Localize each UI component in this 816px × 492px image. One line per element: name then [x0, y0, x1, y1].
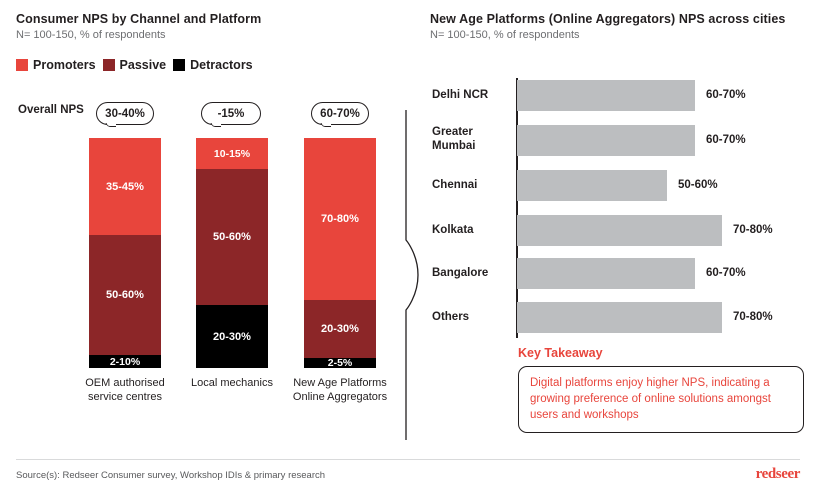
legend-swatch-detractors — [173, 59, 185, 71]
legend-swatch-promoters — [16, 59, 28, 71]
right-chart-title: New Age Platforms (Online Aggregators) N… — [430, 12, 785, 26]
segment-oem-passive: 50-60% — [89, 235, 161, 355]
bar-greater-mumbai — [517, 125, 695, 156]
city-label-greater-mumbai-line2: Mumbai — [432, 139, 512, 153]
segment-oem-detractors: 2-10% — [89, 355, 161, 368]
bar-value-kolkata: 70-80% — [733, 224, 773, 236]
segment-local-passive: 50-60% — [196, 169, 268, 305]
callout-bubble-local-text: -15% — [218, 108, 245, 120]
bar-others — [517, 302, 722, 333]
city-label-kolkata-line1: Kolkata — [432, 223, 512, 237]
legend: Promoters Passive Detractors — [16, 58, 253, 72]
right-chart-axis — [516, 78, 518, 338]
segment-local-detractors-label: 20-30% — [213, 331, 251, 343]
segment-newage-promoters-label: 70-80% — [321, 213, 359, 225]
category-label-newage-line2: Online Aggregators — [275, 390, 405, 404]
legend-label-promoters: Promoters — [33, 58, 96, 72]
bar-bangalore — [517, 258, 695, 289]
segment-local-promoters-label: 10-15% — [214, 148, 250, 160]
city-label-bangalore: Bangalore — [432, 266, 512, 280]
segment-newage-passive: 20-30% — [304, 300, 376, 358]
segment-local-promoters: 10-15% — [196, 138, 268, 169]
category-label-newage: New Age Platforms Online Aggregators — [275, 376, 405, 404]
segment-newage-detractors: 2-5% — [304, 358, 376, 368]
segment-newage-promoters: 70-80% — [304, 138, 376, 300]
city-label-kolkata: Kolkata — [432, 223, 512, 237]
legend-swatch-passive — [103, 59, 115, 71]
segment-newage-passive-label: 20-30% — [321, 323, 359, 335]
stacked-bars-area: 35-45% 50-60% 2-10% 10-15% 50-60% 20-30%… — [0, 138, 406, 368]
category-label-oem-line2: service centres — [60, 390, 190, 404]
key-takeaway: Key Takeaway Digital platforms enjoy hig… — [518, 346, 804, 433]
bar-kolkata — [517, 215, 722, 246]
legend-label-detractors: Detractors — [190, 58, 253, 72]
key-takeaway-title: Key Takeaway — [518, 346, 804, 360]
legend-item-promoters: Promoters — [16, 58, 96, 72]
callout-tail-newage — [318, 123, 331, 132]
left-chart-subtitle: N= 100-150, % of respondents — [16, 29, 261, 41]
bar-value-chennai: 50-60% — [678, 179, 718, 191]
stack-oem: 35-45% 50-60% 2-10% — [89, 138, 161, 368]
bar-delhi-ncr — [517, 80, 695, 111]
city-label-chennai-line1: Chennai — [432, 178, 512, 192]
callout-tail-oem — [103, 123, 116, 132]
city-label-others: Others — [432, 310, 512, 324]
right-chart-subtitle: N= 100-150, % of respondents — [430, 29, 785, 41]
callout-bubble-oem-text: 30-40% — [105, 108, 145, 120]
category-label-newage-line1: New Age Platforms — [275, 376, 405, 390]
segment-oem-promoters: 35-45% — [89, 138, 161, 235]
segment-oem-detractors-label: 2-10% — [110, 356, 140, 368]
bar-value-bangalore: 60-70% — [706, 267, 746, 279]
callout-tail-local — [208, 123, 221, 132]
bar-value-delhi-ncr: 60-70% — [706, 89, 746, 101]
redseer-logo: redseer — [756, 466, 800, 483]
segment-oem-promoters-label: 35-45% — [106, 181, 144, 193]
stack-local: 10-15% 50-60% 20-30% — [196, 138, 268, 368]
overall-nps-label: Overall NPS — [18, 104, 84, 116]
legend-item-passive: Passive — [103, 58, 167, 72]
bar-value-greater-mumbai: 60-70% — [706, 134, 746, 146]
city-label-others-line1: Others — [432, 310, 512, 324]
city-label-delhi-ncr-line1: Delhi NCR — [432, 88, 512, 102]
segment-local-passive-label: 50-60% — [213, 231, 251, 243]
city-label-greater-mumbai-line1: Greater — [432, 125, 512, 139]
source-note: Source(s): Redseer Consumer survey, Work… — [16, 470, 325, 481]
callout-bubble-newage: 60-70% — [311, 102, 369, 125]
segment-oem-passive-label: 50-60% — [106, 289, 144, 301]
left-chart-panel: Consumer NPS by Channel and Platform N= … — [0, 0, 406, 455]
stack-newage: 70-80% 20-30% 2-5% — [304, 138, 376, 368]
legend-item-detractors: Detractors — [173, 58, 253, 72]
footer-divider — [16, 459, 800, 460]
left-chart-title: Consumer NPS by Channel and Platform — [16, 12, 261, 26]
segment-newage-detractors-label: 2-5% — [328, 357, 353, 369]
city-label-chennai: Chennai — [432, 178, 512, 192]
callout-bubble-oem: 30-40% — [96, 102, 154, 125]
city-label-bangalore-line1: Bangalore — [432, 266, 512, 280]
legend-label-passive: Passive — [120, 58, 167, 72]
segment-local-detractors: 20-30% — [196, 305, 268, 368]
callout-bubble-local: -15% — [201, 102, 261, 125]
bar-value-others: 70-80% — [733, 311, 773, 323]
key-takeaway-body: Digital platforms enjoy higher NPS, indi… — [518, 366, 804, 433]
callout-bubble-newage-text: 60-70% — [320, 108, 360, 120]
bar-chennai — [517, 170, 667, 201]
city-label-greater-mumbai: Greater Mumbai — [432, 125, 512, 153]
city-label-delhi-ncr: Delhi NCR — [432, 88, 512, 102]
